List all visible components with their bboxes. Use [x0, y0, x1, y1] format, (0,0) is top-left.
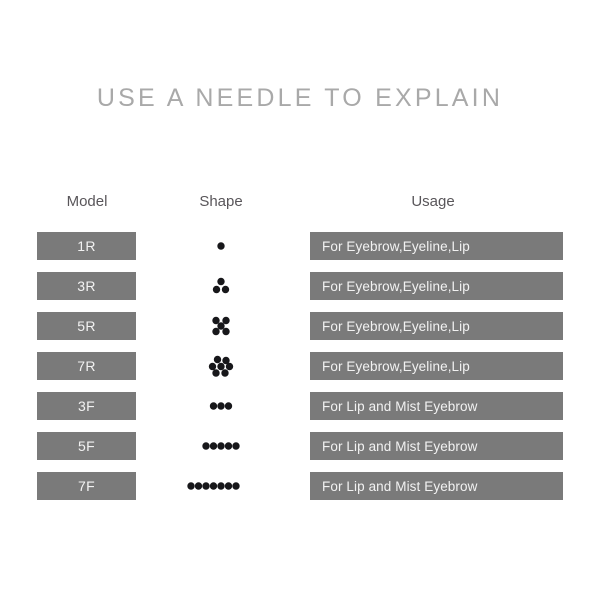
usage-bar[interactable]: For Lip and Mist Eyebrow — [310, 472, 563, 500]
model-bar[interactable]: 3F — [37, 392, 136, 420]
table-row: 7FFor Lip and Mist Eyebrow — [0, 472, 600, 512]
shape-cell-hexagonal-7-dots — [161, 352, 281, 380]
shape-cell-single-dot — [161, 232, 281, 260]
model-label: 5R — [77, 318, 96, 334]
model-label: 5F — [78, 438, 95, 454]
needle-dot-pattern-icon — [161, 232, 281, 260]
shape-cell-flat-row-3-dots — [161, 392, 281, 420]
column-header-usage: Usage — [411, 193, 454, 210]
model-bar[interactable]: 5F — [37, 432, 136, 460]
usage-label: For Eyebrow,Eyeline,Lip — [310, 359, 470, 374]
model-label: 7R — [77, 358, 96, 374]
model-bar[interactable]: 3R — [37, 272, 136, 300]
needle-table-body: 1RFor Eyebrow,Eyeline,Lip3RFor Eyebrow,E… — [0, 232, 600, 512]
needle-dot-pattern-icon — [161, 432, 281, 460]
usage-label: For Lip and Mist Eyebrow — [310, 479, 477, 494]
model-label: 1R — [77, 238, 96, 254]
shape-cell-flat-row-5-dots — [161, 432, 281, 460]
model-bar[interactable]: 7F — [37, 472, 136, 500]
needle-dot-pattern-icon — [161, 392, 281, 420]
usage-label: For Eyebrow,Eyeline,Lip — [310, 319, 470, 334]
needle-dot-pattern-icon — [161, 312, 281, 340]
table-row: 1RFor Eyebrow,Eyeline,Lip — [0, 232, 600, 272]
column-headers: Model Shape Usage — [0, 193, 600, 217]
model-label: 7F — [78, 478, 95, 494]
needle-chart-page: USE A NEEDLE TO EXPLAIN Model Shape Usag… — [0, 0, 600, 600]
needle-dot-pattern-icon — [161, 352, 281, 380]
page-title: USE A NEEDLE TO EXPLAIN — [0, 84, 600, 113]
table-row: 7RFor Eyebrow,Eyeline,Lip — [0, 352, 600, 392]
usage-bar[interactable]: For Lip and Mist Eyebrow — [310, 432, 563, 460]
usage-bar[interactable]: For Eyebrow,Eyeline,Lip — [310, 352, 563, 380]
table-row: 3FFor Lip and Mist Eyebrow — [0, 392, 600, 432]
usage-bar[interactable]: For Lip and Mist Eyebrow — [310, 392, 563, 420]
usage-label: For Lip and Mist Eyebrow — [310, 439, 477, 454]
table-row: 5RFor Eyebrow,Eyeline,Lip — [0, 312, 600, 352]
usage-bar[interactable]: For Eyebrow,Eyeline,Lip — [310, 272, 563, 300]
needle-dot-pattern-icon — [161, 272, 281, 300]
usage-label: For Lip and Mist Eyebrow — [310, 399, 477, 414]
needle-dot-pattern-icon — [161, 472, 281, 500]
model-bar[interactable]: 7R — [37, 352, 136, 380]
column-header-model: Model — [67, 193, 108, 210]
table-row: 5FFor Lip and Mist Eyebrow — [0, 432, 600, 472]
usage-bar[interactable]: For Eyebrow,Eyeline,Lip — [310, 232, 563, 260]
shape-cell-quincunx-5-dots — [161, 312, 281, 340]
shape-cell-triangle-3-dots — [161, 272, 281, 300]
model-label: 3F — [78, 398, 95, 414]
usage-bar[interactable]: For Eyebrow,Eyeline,Lip — [310, 312, 563, 340]
model-label: 3R — [77, 278, 96, 294]
usage-label: For Eyebrow,Eyeline,Lip — [310, 239, 470, 254]
model-bar[interactable]: 5R — [37, 312, 136, 340]
model-bar[interactable]: 1R — [37, 232, 136, 260]
column-header-shape: Shape — [199, 193, 242, 210]
usage-label: For Eyebrow,Eyeline,Lip — [310, 279, 470, 294]
shape-cell-flat-row-7-dots — [161, 472, 281, 500]
table-row: 3RFor Eyebrow,Eyeline,Lip — [0, 272, 600, 312]
